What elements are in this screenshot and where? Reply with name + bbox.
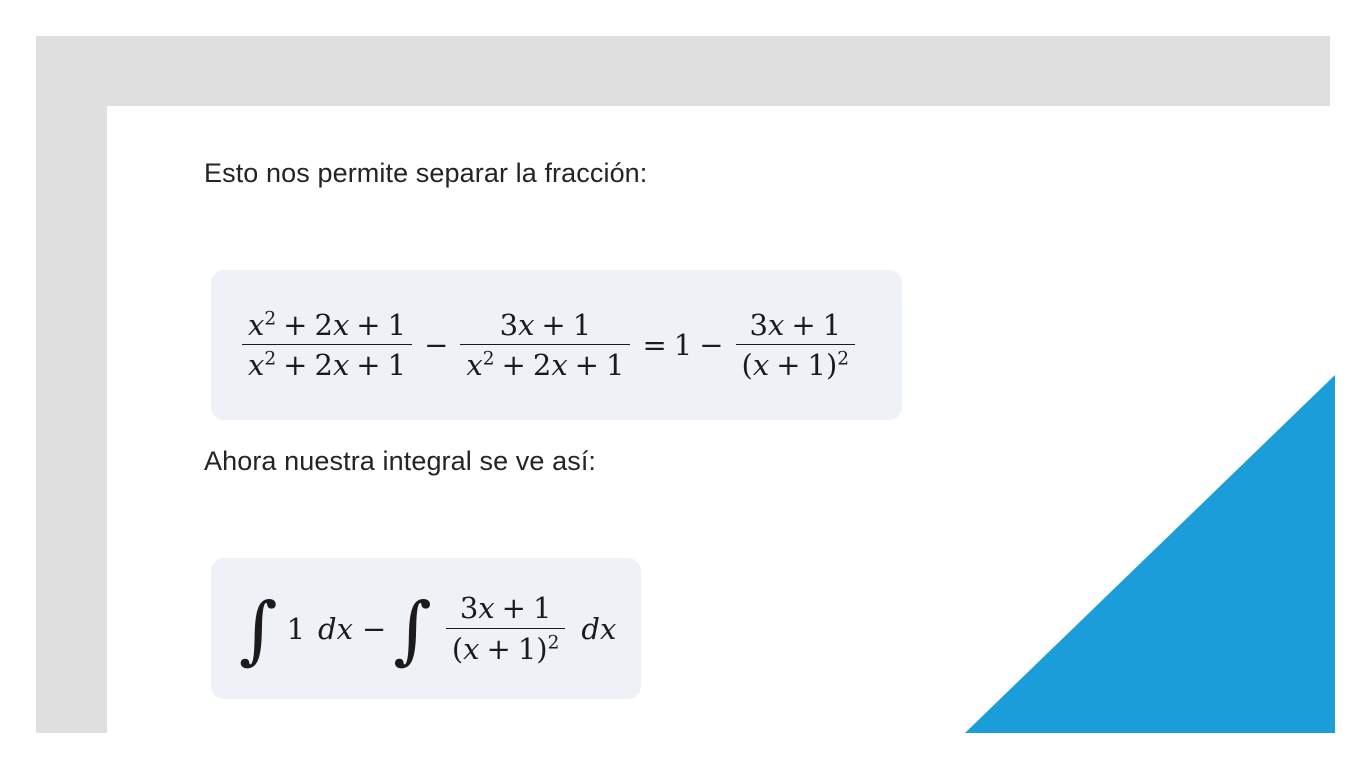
formula-box-2: ∫ 1 dx − ∫ 3x+1 (x+1)2 dx	[211, 558, 641, 699]
slide-page: { "slide": { "background_color": "#fffff…	[0, 0, 1360, 770]
integral-sign-icon-2: ∫	[393, 602, 432, 660]
fraction-4-numerator: 3x+1	[454, 592, 558, 627]
formula-1: x2+2x+1 x2+2x+1 − 3x+1 x2+2x+1 = 1 − 3x+…	[237, 309, 860, 382]
paragraph-line-1: Esto nos permite separar la fracción:	[204, 156, 647, 190]
fraction-1-numerator: x2+2x+1	[242, 309, 412, 344]
slide-canvas: Esto nos permite separar la fracción: x2…	[107, 106, 1330, 735]
fraction-2-numerator: 3x+1	[494, 309, 598, 344]
differential-2: dx	[581, 612, 616, 646]
operator-equals: =	[642, 328, 666, 362]
operator-minus-3: −	[362, 612, 386, 646]
fraction-4: 3x+1 (x+1)2	[446, 592, 566, 665]
fraction-1-denominator: x2+2x+1	[242, 344, 412, 381]
fraction-4-denominator: (x+1)2	[446, 628, 566, 665]
term-one: 1	[674, 328, 692, 362]
formula-box-1: x2+2x+1 x2+2x+1 − 3x+1 x2+2x+1 = 1 − 3x+…	[211, 270, 902, 420]
slide-frame: Esto nos permite separar la fracción: x2…	[36, 36, 1330, 733]
integrand-1: 1	[287, 612, 305, 646]
paragraph-line-2: Ahora nuestra integral se ve así:	[204, 444, 596, 478]
differential-1: dx	[318, 612, 353, 646]
operator-minus-1: −	[424, 328, 448, 362]
formula-2: ∫ 1 dx − ∫ 3x+1 (x+1)2 dx	[239, 592, 618, 665]
fraction-2-denominator: x2+2x+1	[460, 344, 630, 381]
fraction-3-numerator: 3x+1	[744, 309, 848, 344]
integral-sign-icon: ∫	[239, 602, 278, 660]
fraction-2: 3x+1 x2+2x+1	[460, 309, 630, 382]
fraction-3-denominator: (x+1)2	[736, 344, 856, 381]
operator-minus-2: −	[699, 328, 723, 362]
fraction-3: 3x+1 (x+1)2	[736, 309, 856, 382]
fraction-1: x2+2x+1 x2+2x+1	[242, 309, 412, 382]
